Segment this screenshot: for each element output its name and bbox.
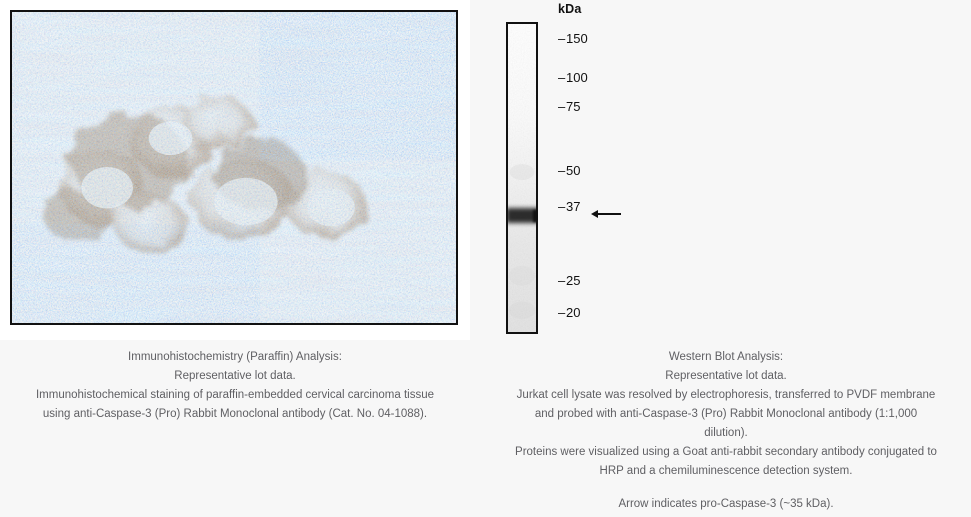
marker-tick-37: –: [558, 199, 566, 214]
blot-membrane-background: [508, 24, 536, 332]
western-blot-panel: kDa: [481, 0, 971, 517]
western-blot-lane: [506, 22, 538, 334]
marker-label-75: 75: [566, 99, 580, 114]
western-blot-caption: Western Blot Analysis: Representative lo…: [481, 348, 971, 514]
immunohistochemistry-micrograph: [12, 12, 456, 323]
blot-band-edge-artifact: [533, 210, 537, 222]
wb-caption-line-3: Jurkat cell lysate was resolved by elect…: [481, 386, 971, 405]
arrow-shaft: [597, 213, 621, 215]
marker-tick-150: –: [558, 31, 566, 46]
marker-150: –150: [558, 31, 588, 46]
marker-100: –100: [558, 70, 588, 85]
ihc-caption-line-4: using anti-Caspase-3 (Pro) Rabbit Monocl…: [0, 405, 470, 424]
marker-tick-50: –: [558, 163, 566, 178]
marker-tick-25: –: [558, 273, 566, 288]
marker-tick-20: –: [558, 305, 566, 320]
wb-caption-line-5: dilution).: [481, 424, 971, 443]
wb-caption-line-7: HRP and a chemiluminescence detection sy…: [481, 462, 971, 481]
ihc-caption-line-2: Representative lot data.: [0, 367, 470, 386]
wb-caption-line-6: Proteins were visualized using a Goat an…: [481, 443, 971, 462]
marker-label-37: 37: [566, 199, 580, 214]
marker-37: –37: [558, 199, 580, 214]
marker-tick-75: –: [558, 99, 566, 114]
marker-label-25: 25: [566, 273, 580, 288]
wb-caption-line-4: and probed with anti-Caspase-3 (Pro) Rab…: [481, 405, 971, 424]
marker-25: –25: [558, 273, 580, 288]
marker-label-150: 150: [566, 31, 588, 46]
ihc-caption-line-3: Immunohistochemical staining of paraffin…: [0, 386, 470, 405]
wb-caption-line-1: Western Blot Analysis:: [481, 348, 971, 367]
marker-50: –50: [558, 163, 580, 178]
ihc-caption: Immunohistochemistry (Paraffin) Analysis…: [0, 348, 470, 424]
marker-tick-100: –: [558, 70, 566, 85]
kda-axis-title: kDa: [558, 2, 582, 16]
ihc-caption-line-1: Immunohistochemistry (Paraffin) Analysis…: [0, 348, 470, 367]
ihc-image-frame: [10, 10, 458, 325]
figure-container: Immunohistochemistry (Paraffin) Analysis…: [0, 0, 971, 517]
wb-caption-line-2: Representative lot data.: [481, 367, 971, 386]
marker-label-100: 100: [566, 70, 588, 85]
wb-caption-arrow-note: Arrow indicates pro-Caspase-3 (~35 kDa).: [481, 495, 971, 514]
marker-label-20: 20: [566, 305, 580, 320]
marker-20: –20: [558, 305, 580, 320]
marker-label-50: 50: [566, 163, 580, 178]
ihc-panel: Immunohistochemistry (Paraffin) Analysis…: [0, 0, 470, 340]
pro-caspase-3-arrow-icon: [591, 209, 623, 219]
caption-spacer: [481, 481, 971, 495]
marker-75: –75: [558, 99, 580, 114]
